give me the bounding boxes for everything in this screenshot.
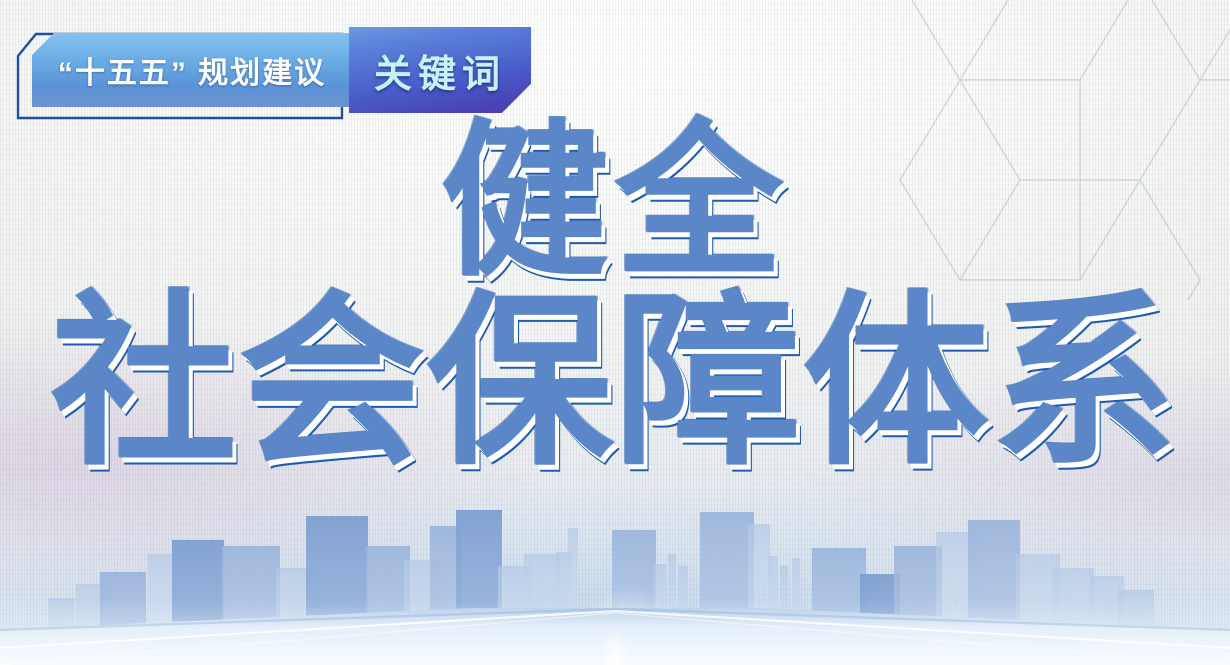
- keyword-badge[interactable]: “十五五” 规划建议 关键词: [12, 24, 557, 128]
- city-skyline-silhouette-icon: [0, 480, 1230, 665]
- badge-main-label[interactable]: “十五五” 规划建议: [32, 33, 352, 107]
- badge-keyword-label[interactable]: 关键词: [349, 27, 531, 113]
- poster-canvas: “十五五” 规划建议 关键词 健全 社会保障体系: [0, 0, 1230, 665]
